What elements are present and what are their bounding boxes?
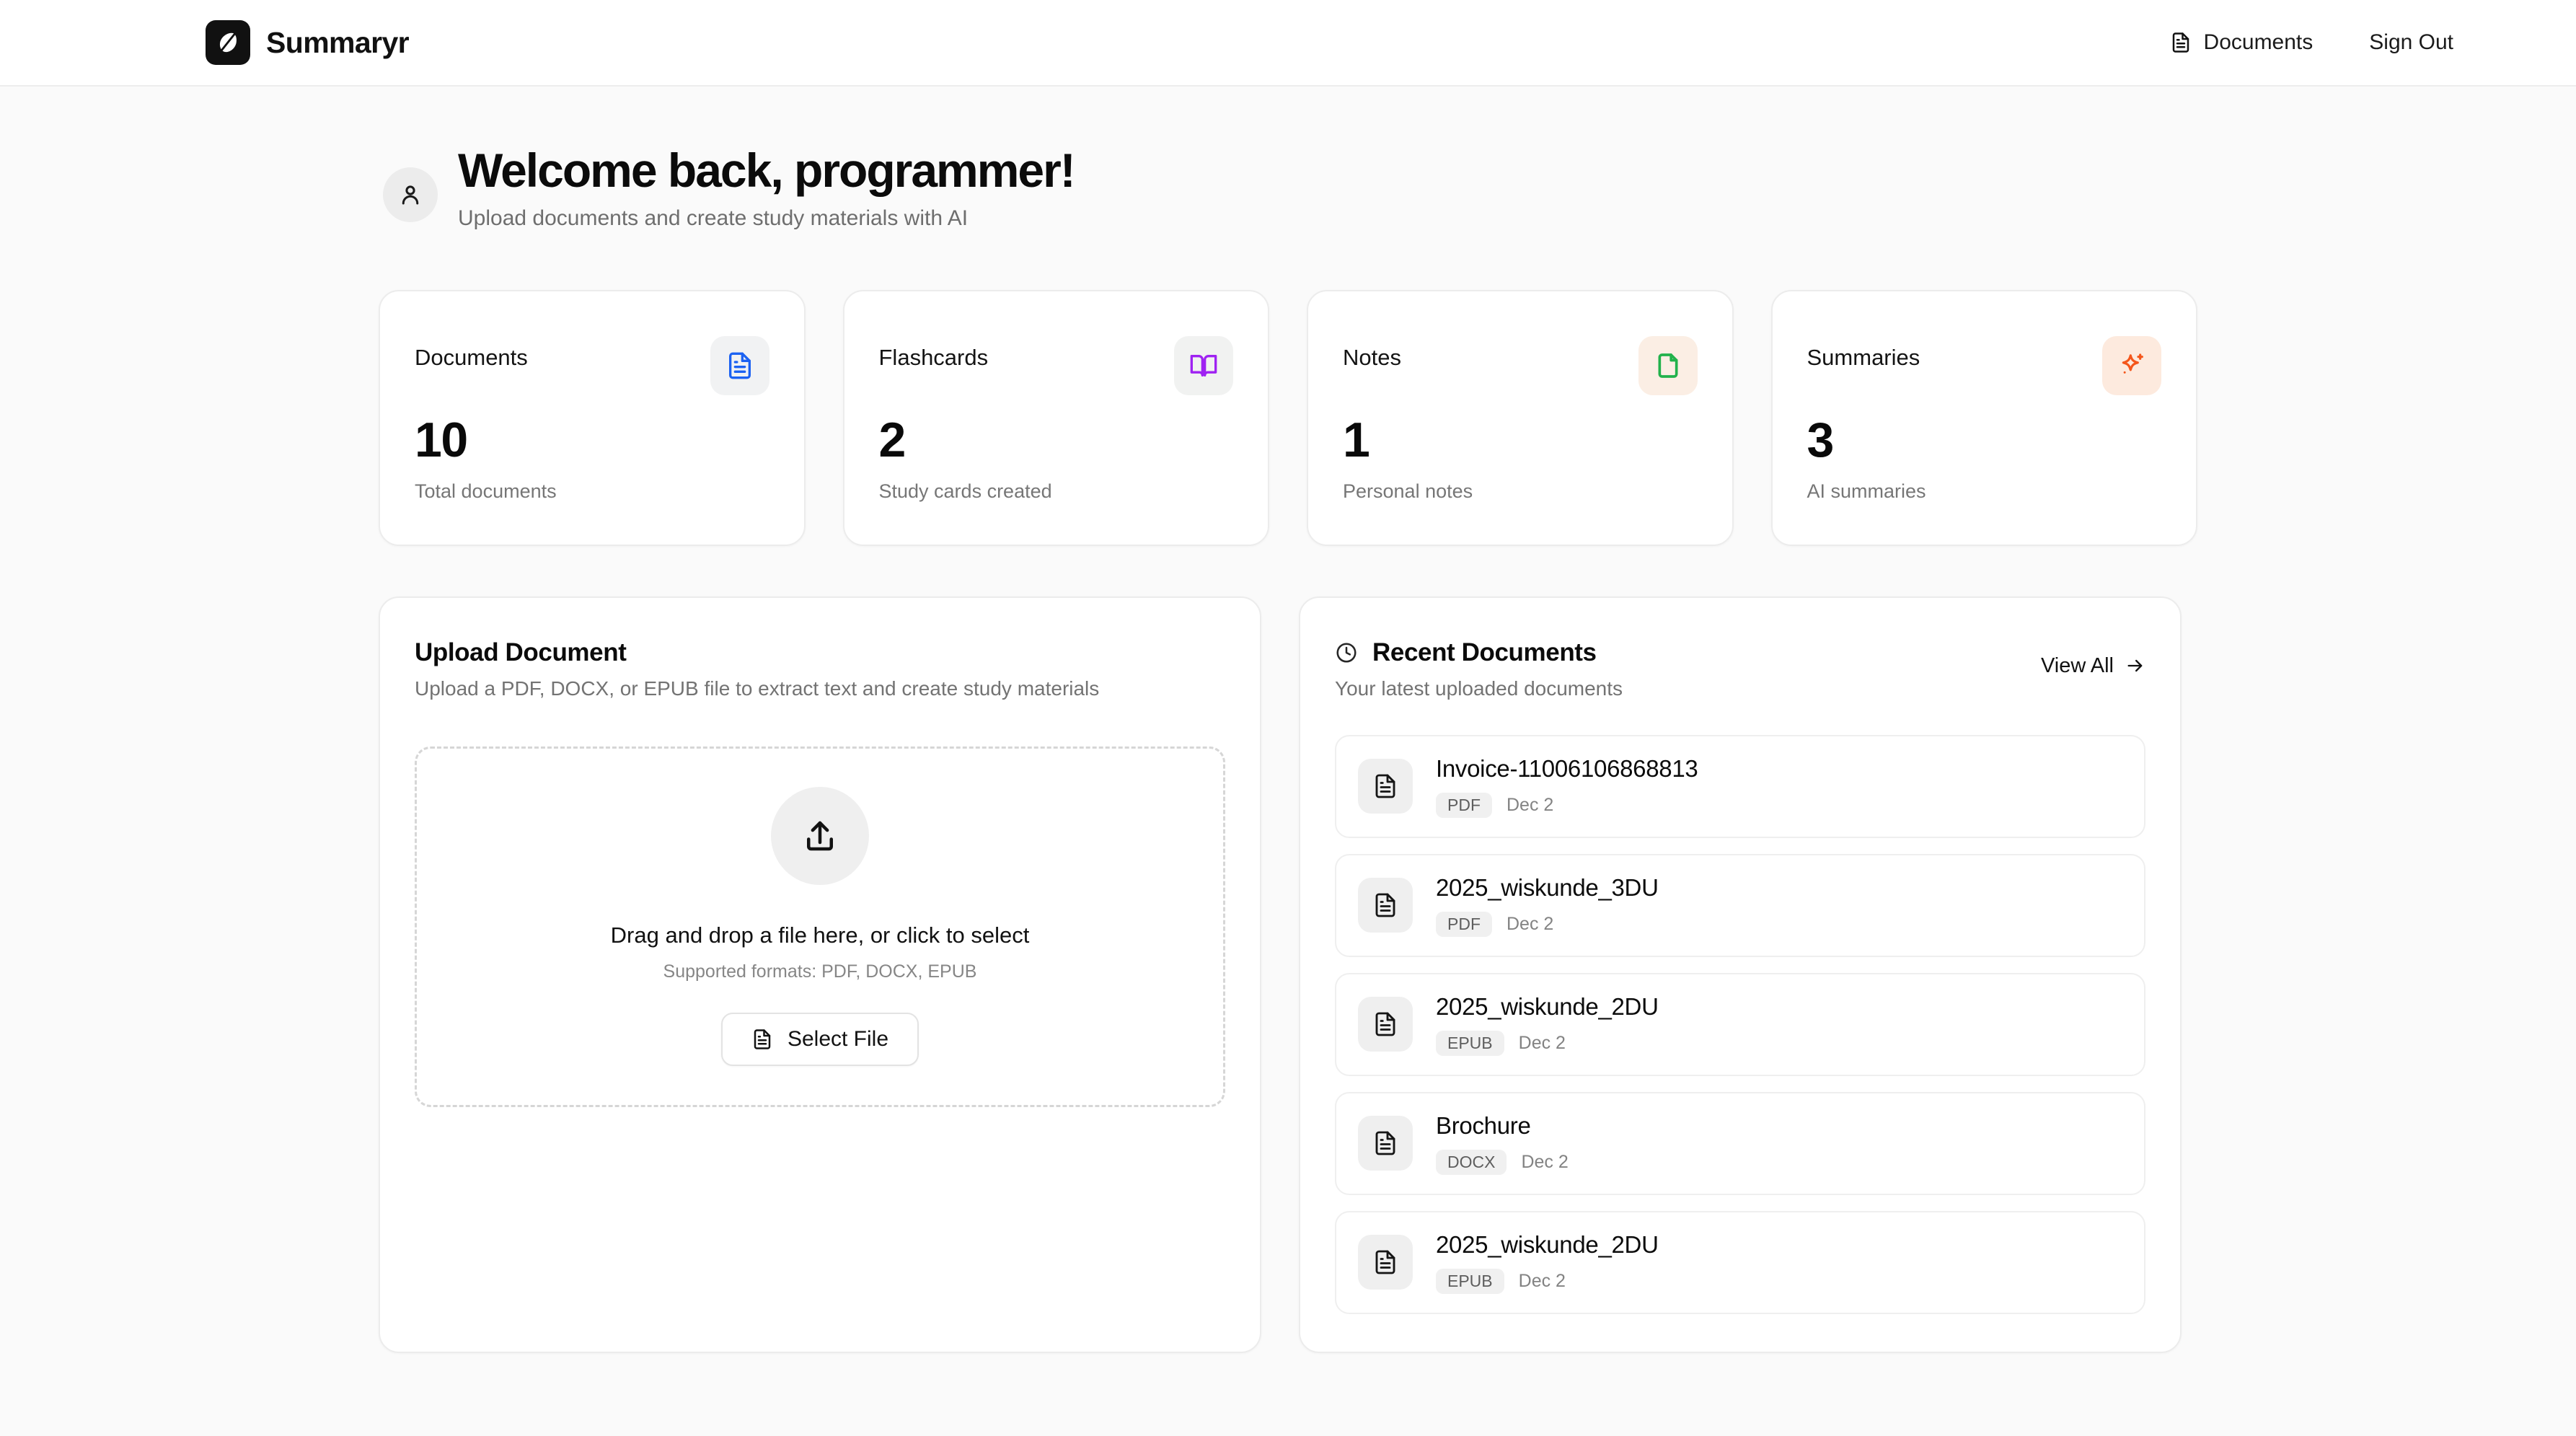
summaryr-logo-icon [206,20,250,65]
nav-item-documents-label: Documents [2204,30,2313,55]
arrow-right-icon [2125,656,2145,676]
list-item-text: 2025_wiskunde_2DU EPUB Dec 2 [1436,1231,1659,1294]
list-item-text: Invoice-11006106868813 PDF Dec 2 [1436,755,1698,818]
document-meta: EPUB Dec 2 [1436,1031,1659,1056]
list-item-text: 2025_wiskunde_3DU PDF Dec 2 [1436,874,1659,937]
view-all-link[interactable]: View All [2041,638,2145,678]
stat-caption: AI summaries [1807,480,2162,503]
select-file-button[interactable]: Select File [721,1013,919,1066]
document-name: 2025_wiskunde_3DU [1436,874,1659,902]
nav-links: Documents Sign Out [2170,30,2453,55]
book-open-icon [1174,336,1233,395]
welcome-header: Welcome back, programmer! Upload documen… [379,144,2197,231]
file-icon [1638,336,1698,395]
document-date: Dec 2 [1507,914,1553,935]
dropzone-secondary-text: Supported formats: PDF, DOCX, EPUB [663,961,977,982]
stat-caption: Personal notes [1343,480,1698,503]
nav-item-documents[interactable]: Documents [2170,30,2313,55]
stat-card-header: Documents [415,336,769,395]
stat-card-header: Flashcards [879,336,1234,395]
sparkles-icon [2102,336,2161,395]
stat-card-header: Notes [1343,336,1698,395]
dropzone-primary-text: Drag and drop a file here, or click to s… [611,922,1030,948]
stat-card-flashcards[interactable]: Flashcards 2 Study cards created [843,290,1270,546]
list-item[interactable]: Invoice-11006106868813 PDF Dec 2 [1335,735,2145,838]
avatar [383,167,438,222]
file-text-icon [2170,32,2192,53]
file-text-icon [1358,759,1413,814]
stat-value: 2 [879,415,1234,464]
status-badge: EPUB [1436,1269,1504,1294]
file-dropzone[interactable]: Drag and drop a file here, or click to s… [415,746,1225,1107]
page-title: Welcome back, programmer! [458,144,1075,198]
brand-name: Summaryr [266,26,409,60]
stat-caption: Total documents [415,480,769,503]
recent-panel-heading-group: Recent Documents Your latest uploaded do… [1335,638,1623,700]
panels-grid: Upload Document Upload a PDF, DOCX, or E… [379,596,2197,1353]
clock-icon [1335,641,1358,664]
document-name: 2025_wiskunde_2DU [1436,1231,1659,1259]
status-badge: DOCX [1436,1150,1507,1175]
stats-grid: Documents 10 Total documents [379,290,2197,546]
brand-logo-group[interactable]: Summaryr [206,20,409,65]
file-text-icon [1358,1116,1413,1171]
list-item[interactable]: 2025_wiskunde_2DU EPUB Dec 2 [1335,1211,2145,1314]
document-name: Invoice-11006106868813 [1436,755,1698,783]
document-name: Brochure [1436,1112,1569,1140]
document-meta: EPUB Dec 2 [1436,1269,1659,1294]
page-body: Welcome back, programmer! Upload documen… [0,87,2576,1353]
content-container: Welcome back, programmer! Upload documen… [379,87,2197,1353]
file-text-icon [751,1028,773,1050]
list-item[interactable]: 2025_wiskunde_3DU PDF Dec 2 [1335,854,2145,957]
document-name: 2025_wiskunde_2DU [1436,993,1659,1021]
nav-item-sign-out-label: Sign Out [2369,30,2453,55]
stat-value: 1 [1343,415,1698,464]
select-file-button-label: Select File [788,1027,888,1052]
recent-panel-subtitle: Your latest uploaded documents [1335,677,1623,700]
file-text-icon [1358,1235,1413,1290]
file-text-icon [1358,997,1413,1052]
upload-icon [771,787,869,885]
top-navigation-bar: Summaryr Documents Sign Out [0,0,2576,87]
upload-panel-subtitle: Upload a PDF, DOCX, or EPUB file to extr… [415,677,1225,700]
status-badge: EPUB [1436,1031,1504,1056]
page-subtitle: Upload documents and create study materi… [458,206,1075,231]
stat-label: Flashcards [879,336,989,371]
document-date: Dec 2 [1507,795,1553,816]
document-date: Dec 2 [1519,1033,1566,1054]
file-text-icon [710,336,769,395]
stat-value: 10 [415,415,769,464]
recent-title-row: Recent Documents [1335,638,1623,667]
welcome-text-group: Welcome back, programmer! Upload documen… [458,144,1075,231]
recent-documents-panel: Recent Documents Your latest uploaded do… [1299,596,2182,1353]
list-item-text: Brochure DOCX Dec 2 [1436,1112,1569,1175]
document-date: Dec 2 [1519,1271,1566,1292]
list-item-text: 2025_wiskunde_2DU EPUB Dec 2 [1436,993,1659,1056]
stat-label: Documents [415,336,528,371]
status-badge: PDF [1436,912,1492,937]
nav-item-sign-out[interactable]: Sign Out [2369,30,2453,55]
stat-label: Summaries [1807,336,1920,371]
list-item[interactable]: 2025_wiskunde_2DU EPUB Dec 2 [1335,973,2145,1076]
stat-card-documents[interactable]: Documents 10 Total documents [379,290,806,546]
document-meta: PDF Dec 2 [1436,912,1659,937]
recent-documents-list: Invoice-11006106868813 PDF Dec 2 [1335,735,2145,1314]
document-date: Dec 2 [1521,1152,1568,1173]
upload-panel-title: Upload Document [415,638,1225,667]
stat-card-notes[interactable]: Notes 1 Personal notes [1307,290,1734,546]
recent-panel-header: Recent Documents Your latest uploaded do… [1335,638,2145,700]
list-item[interactable]: Brochure DOCX Dec 2 [1335,1092,2145,1195]
status-badge: PDF [1436,793,1492,818]
stat-label: Notes [1343,336,1401,371]
recent-panel-title: Recent Documents [1372,638,1597,667]
stat-caption: Study cards created [879,480,1234,503]
upload-document-panel: Upload Document Upload a PDF, DOCX, or E… [379,596,1261,1353]
stat-card-header: Summaries [1807,336,2162,395]
document-meta: PDF Dec 2 [1436,793,1698,818]
view-all-label: View All [2041,654,2114,678]
document-meta: DOCX Dec 2 [1436,1150,1569,1175]
stat-value: 3 [1807,415,2162,464]
stat-card-summaries[interactable]: Summaries 3 AI summaries [1771,290,2198,546]
file-text-icon [1358,878,1413,933]
